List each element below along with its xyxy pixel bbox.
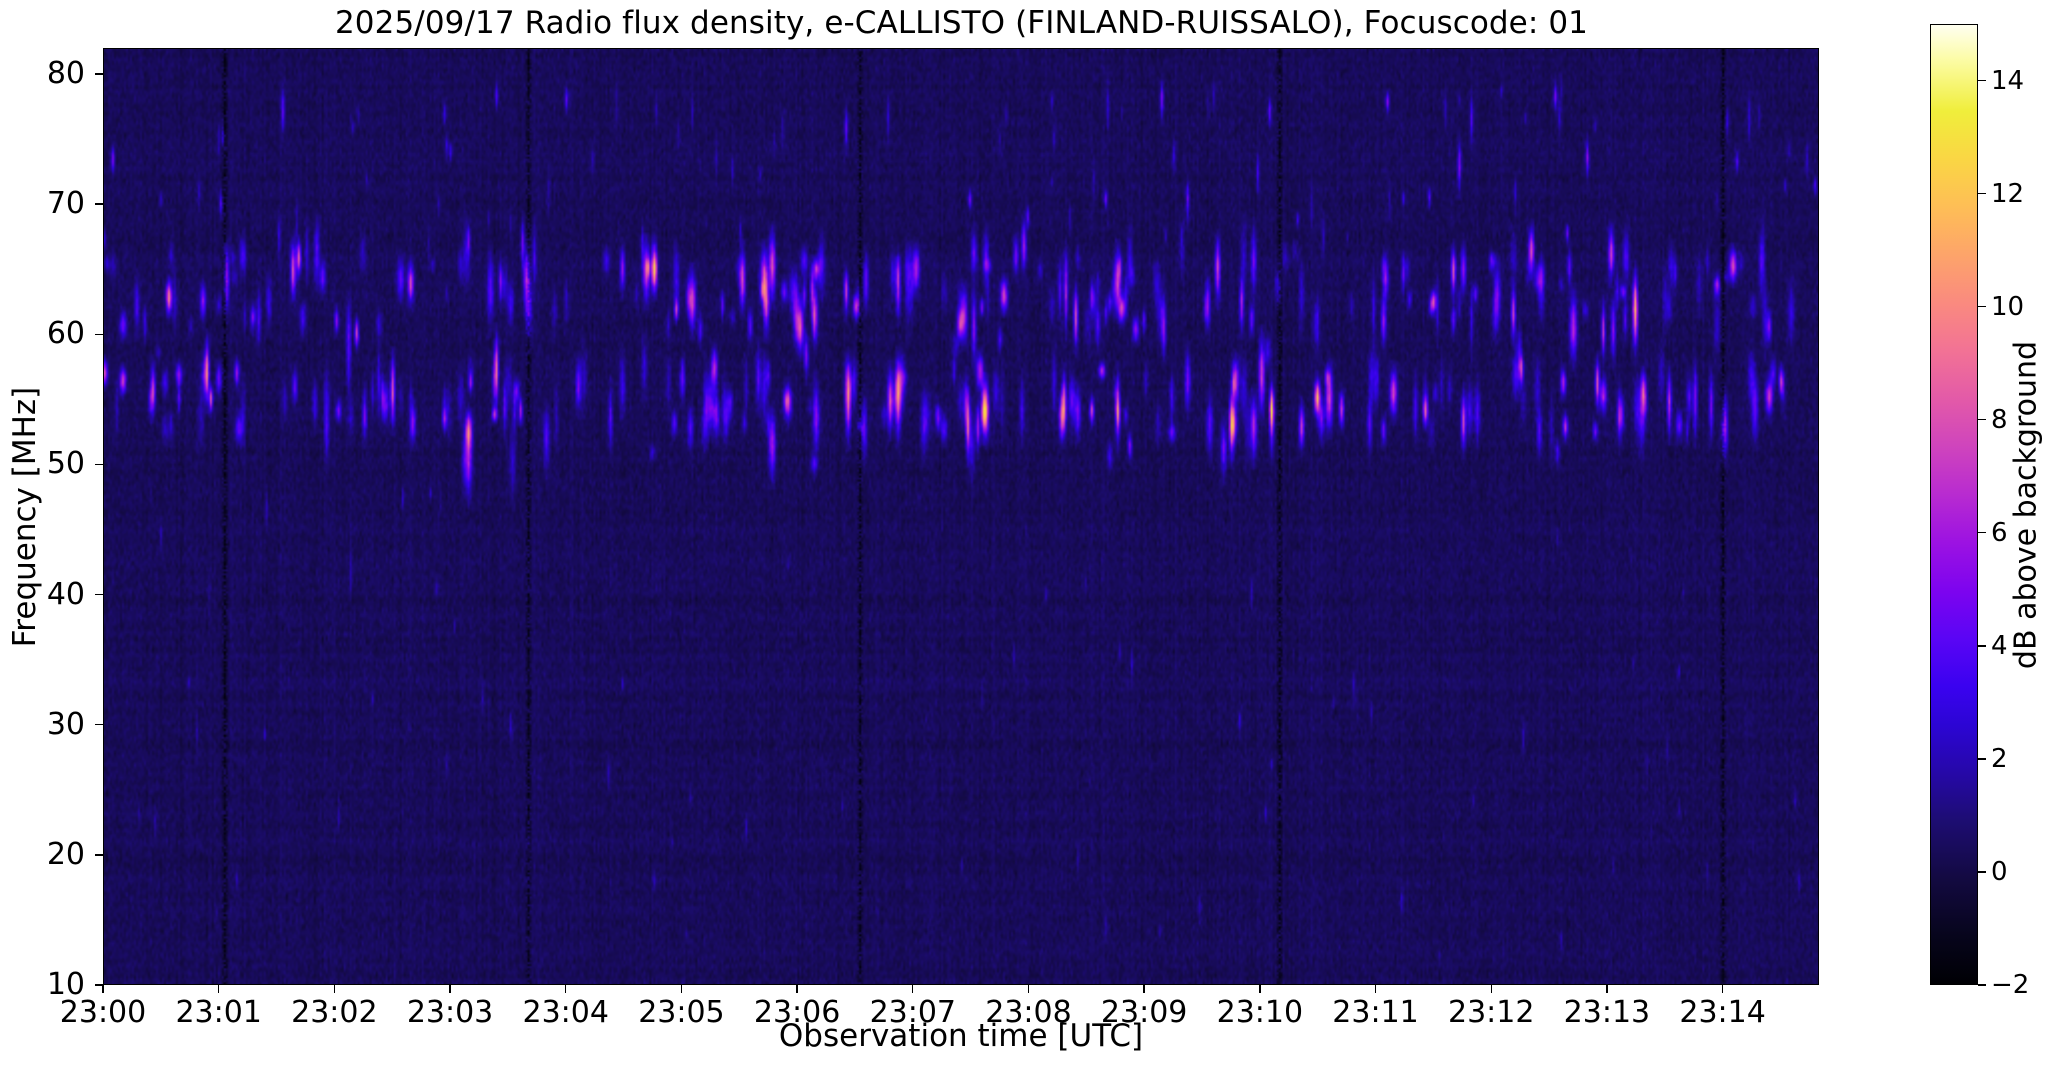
colorbar-tick-mark bbox=[1978, 645, 1986, 646]
spectrogram-heatmap[interactable] bbox=[104, 49, 1818, 984]
colorbar-tick-mark bbox=[1978, 758, 1986, 759]
colorbar-tick-mark bbox=[1978, 419, 1986, 420]
y-tick-mark bbox=[95, 854, 103, 855]
colorbar-label: dB above background bbox=[2008, 24, 2044, 985]
x-tick-mark bbox=[912, 985, 913, 993]
colorbar-tick-mark bbox=[1978, 532, 1986, 533]
colorbar-tick-mark bbox=[1978, 80, 1986, 81]
colorbar-tick-mark bbox=[1978, 306, 1986, 307]
y-tick-mark bbox=[95, 203, 103, 204]
x-tick-mark bbox=[1491, 985, 1492, 993]
y-tick-mark bbox=[95, 724, 103, 725]
y-tick-label: 70 bbox=[15, 189, 85, 219]
x-tick-mark bbox=[218, 985, 219, 993]
y-tick-mark bbox=[95, 464, 103, 465]
y-tick-mark bbox=[95, 334, 103, 335]
x-tick-mark bbox=[102, 985, 103, 993]
x-tick-mark bbox=[1375, 985, 1376, 993]
page-title: 2025/09/17 Radio flux density, e-CALLIST… bbox=[103, 4, 1820, 42]
y-tick-mark bbox=[95, 73, 103, 74]
colorbar-tick-mark bbox=[1978, 984, 1986, 985]
x-tick-mark bbox=[1028, 985, 1029, 993]
colorbar-tick-mark bbox=[1978, 871, 1986, 872]
x-tick-mark bbox=[334, 985, 335, 993]
x-axis-label: Observation time [UTC] bbox=[103, 1018, 1819, 1054]
y-tick-label: 80 bbox=[15, 59, 85, 89]
x-tick-mark bbox=[565, 985, 566, 993]
y-tick-label: 40 bbox=[15, 580, 85, 610]
x-tick-mark bbox=[1143, 985, 1144, 993]
spectrogram-plot[interactable] bbox=[103, 48, 1819, 985]
x-tick-mark bbox=[449, 985, 450, 993]
x-tick-mark bbox=[1259, 985, 1260, 993]
x-tick-mark bbox=[1606, 985, 1607, 993]
y-tick-mark bbox=[95, 594, 103, 595]
colorbar-tick-mark bbox=[1978, 193, 1986, 194]
y-tick-label: 50 bbox=[15, 449, 85, 479]
y-tick-label: 20 bbox=[15, 840, 85, 870]
colorbar-label-text: dB above background bbox=[2009, 340, 2044, 668]
y-tick-label: 60 bbox=[15, 319, 85, 349]
x-tick-mark bbox=[1722, 985, 1723, 993]
x-tick-mark bbox=[796, 985, 797, 993]
x-tick-mark bbox=[681, 985, 682, 993]
colorbar[interactable] bbox=[1930, 24, 1978, 985]
y-tick-label: 30 bbox=[15, 710, 85, 740]
